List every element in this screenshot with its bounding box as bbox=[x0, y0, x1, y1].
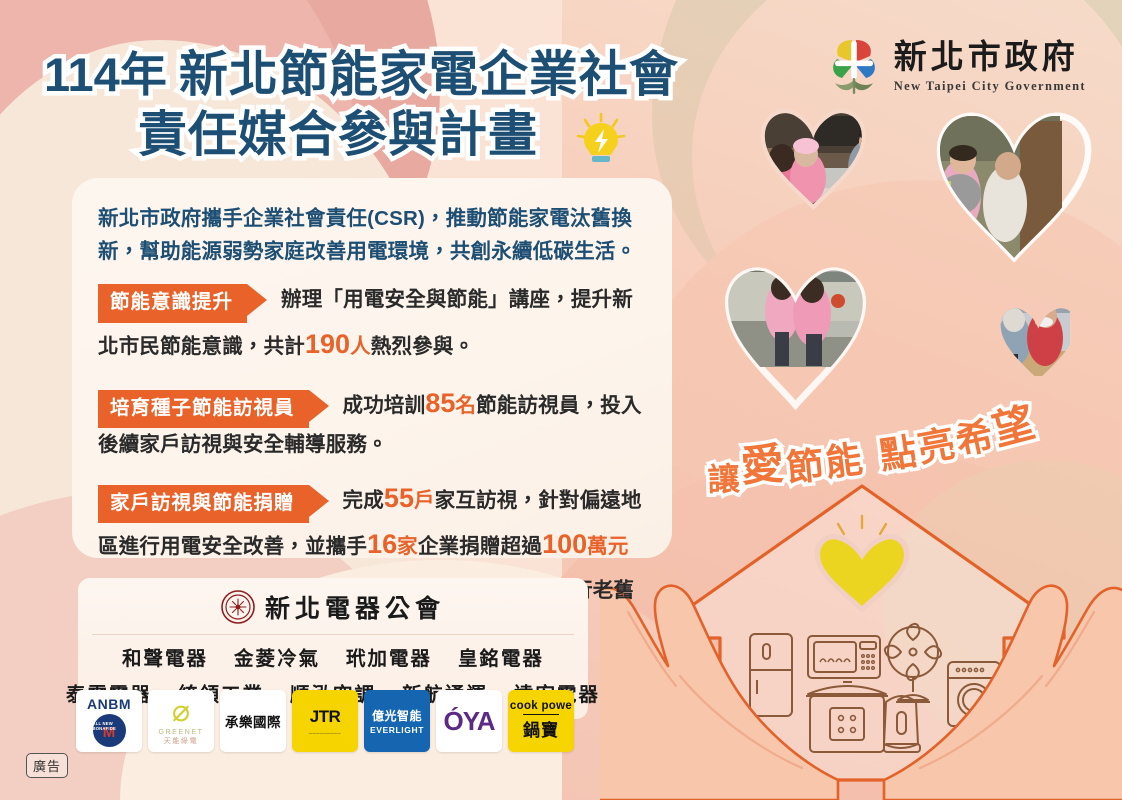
home-visit-kitchen-photo bbox=[720, 226, 895, 367]
logo-chengle: 承樂國際 bbox=[220, 690, 286, 752]
section-text: 熱烈參與。 bbox=[371, 335, 475, 358]
logo-jtr-text: JTR bbox=[310, 707, 341, 727]
section-tag: 家戶訪視與節能捐贈 bbox=[98, 485, 309, 524]
logo-anbm-sub: ALL NEW BONAFIDE bbox=[93, 721, 126, 731]
sponsor-logo-strip: ANBM ALL NEW BONAFIDE M ⌀ GREENET 天能綠電 承… bbox=[76, 690, 574, 752]
heart-photo-collage bbox=[720, 96, 1122, 426]
stat-unit: 家 bbox=[397, 535, 418, 558]
tagline-char-1: 愛 bbox=[739, 429, 786, 494]
logo-jtr: JTR ───────── bbox=[292, 690, 358, 752]
logo-greenet: ⌀ GREENET 天能綠電 bbox=[148, 690, 214, 752]
tagline-char-4: 點 bbox=[875, 421, 920, 480]
lightbulb-icon bbox=[574, 112, 628, 172]
stat-unit: 戶 bbox=[414, 489, 435, 512]
logo-everlight-sub: EVERLIGHT bbox=[370, 725, 424, 735]
government-logo: 新北市政府 New Taipei City Government bbox=[826, 36, 1086, 98]
logo-anbm-text: ANBM bbox=[87, 696, 131, 712]
section-body: 節能意識提升辦理「用電安全與節能」講座，提升新北市民節能意識，共計190人熱烈參… bbox=[98, 283, 646, 366]
logo-anbm: ANBM ALL NEW BONAFIDE M bbox=[76, 690, 142, 752]
title-line-1: 114年新北節能家電企業社會 bbox=[0, 46, 690, 106]
poster-root: 新北市政府 New Taipei City Government 114年新北節… bbox=[0, 0, 1122, 800]
stat-number: 16 bbox=[367, 529, 397, 559]
government-name-block: 新北市政府 New Taipei City Government bbox=[894, 40, 1086, 94]
tagline-char-3: 能 bbox=[821, 429, 865, 487]
logo-jtr-sub: ───────── bbox=[309, 731, 341, 736]
logo-everlight-text: 億光智能 bbox=[372, 707, 422, 724]
section-tag: 節能意識提升 bbox=[98, 284, 247, 323]
partner-name: 和聲電器 bbox=[122, 642, 208, 671]
title-line-2-wrap: 責任媒合參與計畫 bbox=[0, 106, 690, 166]
partner-name: 皇銘電器 bbox=[458, 642, 544, 671]
logo-oya: ÓYA bbox=[436, 690, 502, 752]
home-visit-family-photo bbox=[900, 116, 1062, 266]
logo-greenet-sub: 天能綠電 bbox=[164, 736, 198, 746]
section-body: 培育種子節能訪視員成功培訓85名節能訪視員，投入後續家戶訪視與安全輔導服務。 bbox=[98, 382, 646, 462]
section-text: 成功培訓 bbox=[343, 394, 426, 417]
stat-number: 55 bbox=[384, 483, 414, 513]
content-panel: 新北市政府攜手企業社會責任(CSR)，推動節能家電汰舊換新，幫助能源弱勢家庭改善… bbox=[72, 178, 672, 558]
association-header: 新北電器公會 bbox=[92, 589, 574, 635]
logo-cookpower-text: cook powe bbox=[510, 701, 572, 713]
tagline-char-2: 節 bbox=[784, 435, 826, 492]
electrical-association-seal-icon bbox=[221, 590, 255, 624]
government-name-zh: 新北市政府 bbox=[894, 40, 1086, 76]
stat-unit: 人 bbox=[350, 335, 371, 358]
partner-name: 金菱冷氣 bbox=[234, 642, 320, 671]
ad-badge: 廣告 bbox=[26, 753, 68, 778]
panel-lead-text: 新北市政府攜手企業社會責任(CSR)，推動節能家電汰舊換新，幫助能源弱勢家庭改善… bbox=[98, 202, 646, 268]
partner-row-1: 和聲電器金菱冷氣玳加電器皇銘電器 bbox=[92, 642, 574, 671]
title-line-2: 責任媒合參與計畫 bbox=[138, 108, 538, 162]
stat-number: 190 bbox=[305, 329, 350, 359]
logo-oya-text: ÓYA bbox=[444, 706, 495, 737]
title-main: 新北節能家電企業社會 bbox=[179, 48, 679, 102]
home-visit-refrigerator-photo bbox=[750, 111, 900, 241]
house-hands-illustration bbox=[600, 480, 1122, 800]
government-name-en: New Taipei City Government bbox=[894, 79, 1086, 94]
stat-number: 100 bbox=[542, 529, 587, 559]
section-text: 完成 bbox=[343, 489, 384, 512]
section-tag: 培育種子節能訪視員 bbox=[98, 390, 309, 429]
association-name: 新北電器公會 bbox=[265, 589, 445, 625]
logo-greenet-icon: ⌀ bbox=[172, 697, 190, 727]
logo-cookpower-sub: 鍋寶 bbox=[523, 714, 559, 741]
new-taipei-city-flower-logo-icon bbox=[826, 36, 882, 98]
energy-workshop-seniors-photo bbox=[960, 281, 1070, 376]
logo-anbm-emblem-icon: ALL NEW BONAFIDE M bbox=[93, 714, 126, 747]
logo-cookpower: cook powe 鍋寶 bbox=[508, 690, 574, 752]
section-text: 企業捐贈超過 bbox=[418, 535, 542, 558]
panel-section: 培育種子節能訪視員成功培訓85名節能訪視員，投入後續家戶訪視與安全輔導服務。 bbox=[98, 382, 646, 462]
stat-unit: 萬元 bbox=[587, 535, 628, 558]
tagline-char-0: 讓 bbox=[707, 454, 740, 501]
stat-number: 85 bbox=[425, 388, 455, 418]
panel-section: 節能意識提升辦理「用電安全與節能」講座，提升新北市民節能意識，共計190人熱烈參… bbox=[98, 283, 646, 366]
partner-name: 玳加電器 bbox=[346, 642, 432, 671]
title-year: 114年 bbox=[44, 48, 167, 101]
poster-title: 114年新北節能家電企業社會 責任媒合參與計畫 bbox=[0, 46, 690, 166]
logo-greenet-text: GREENET bbox=[158, 729, 203, 736]
logo-chengle-text: 承樂國際 bbox=[225, 711, 281, 731]
logo-everlight: 億光智能 EVERLIGHT bbox=[364, 690, 430, 752]
stat-unit: 名 bbox=[455, 394, 476, 417]
